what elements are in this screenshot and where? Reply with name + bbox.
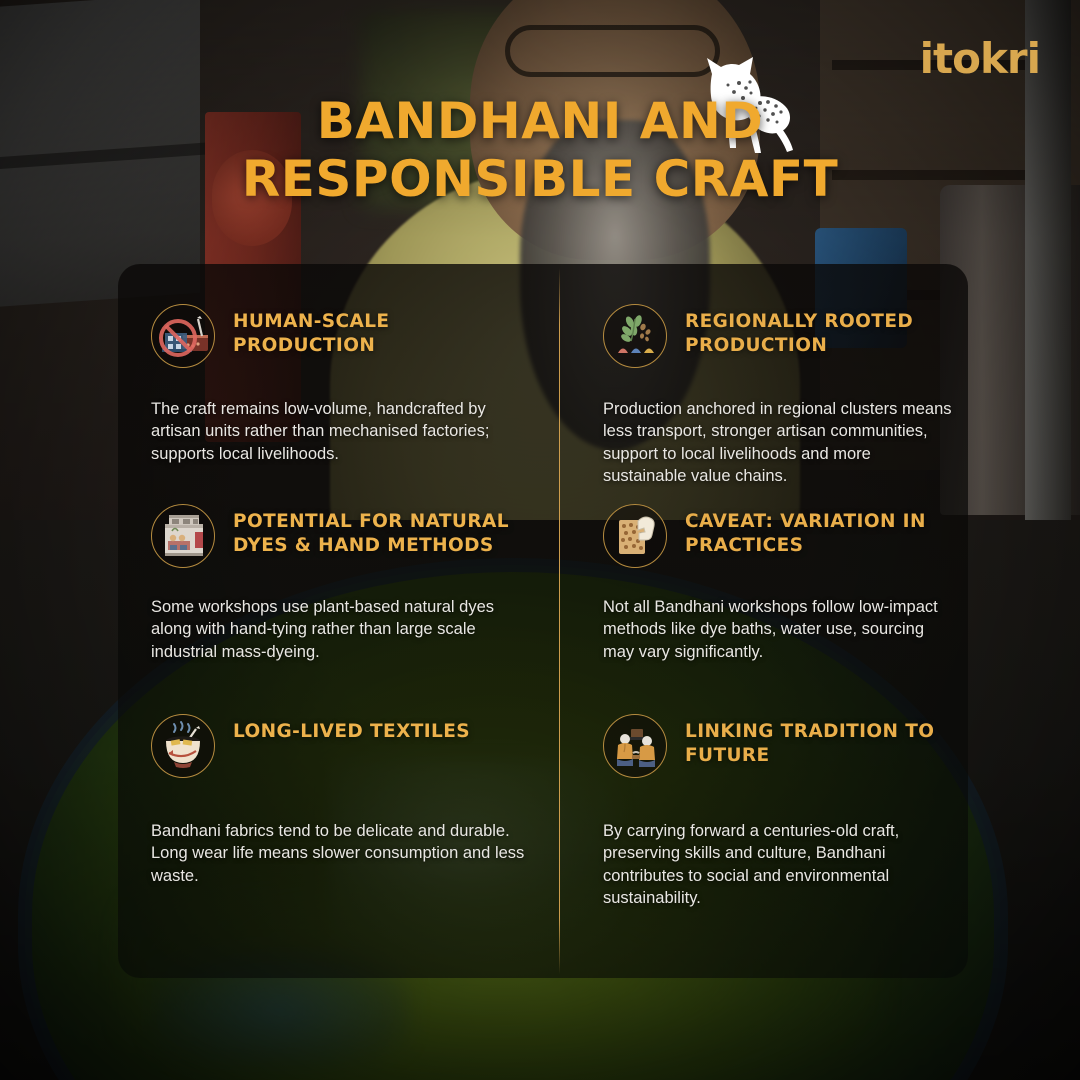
page-title: BANDHANI AND RESPONSIBLE CRAFT (0, 92, 1080, 208)
card-header: REGIONALLY ROOTED PRODUCTION (603, 304, 954, 368)
card-header: LINKING TRADITION TO FUTURE (603, 714, 954, 778)
feature-card: LONG-LIVED TEXTILES Bandhani fabrics ten… (118, 674, 559, 978)
title-line-1: BANDHANI AND (0, 92, 1080, 150)
card-title: HUMAN-SCALE PRODUCTION (233, 310, 537, 357)
card-body: Not all Bandhani workshops follow low-im… (603, 596, 954, 663)
feature-card: LINKING TRADITION TO FUTURE By carrying … (559, 674, 968, 978)
header: itokri (0, 0, 1080, 250)
title-line-2: RESPONSIBLE CRAFT (0, 150, 1080, 208)
card-title: LINKING TRADITION TO FUTURE (685, 720, 954, 767)
card-body: Bandhani fabrics tend to be delicate and… (151, 820, 537, 887)
card-header: CAVEAT: VARIATION IN PRACTICES (603, 504, 954, 568)
feature-card: CAVEAT: VARIATION IN PRACTICES Not all B… (559, 464, 968, 674)
brand-logo[interactable]: itokri (920, 38, 1040, 80)
card-header: POTENTIAL FOR NATURAL DYES & HAND METHOD… (151, 504, 537, 568)
feature-card: REGIONALLY ROOTED PRODUCTION Production … (559, 264, 968, 464)
feature-card: HUMAN-SCALE PRODUCTION The craft remains… (118, 264, 559, 464)
card-title: POTENTIAL FOR NATURAL DYES & HAND METHOD… (233, 510, 537, 557)
no-factory-icon (151, 304, 215, 368)
card-body: Some workshops use plant-based natural d… (151, 596, 537, 663)
card-header: LONG-LIVED TEXTILES (151, 714, 537, 778)
card-title: CAVEAT: VARIATION IN PRACTICES (685, 510, 954, 557)
card-title: REGIONALLY ROOTED PRODUCTION (685, 310, 954, 357)
brand-logo-text: itokri (920, 34, 1040, 83)
steaming-dye-pot-icon (151, 714, 215, 778)
feature-grid: HUMAN-SCALE PRODUCTION The craft remains… (118, 264, 968, 978)
card-header: HUMAN-SCALE PRODUCTION (151, 304, 537, 368)
craft-workshop-building-icon (151, 504, 215, 568)
card-title: LONG-LIVED TEXTILES (233, 720, 470, 744)
card-body: By carrying forward a centuries-old craf… (603, 820, 954, 910)
card-body: The craft remains low-volume, handcrafte… (151, 398, 537, 465)
two-artisans-icon (603, 714, 667, 778)
feature-card: POTENTIAL FOR NATURAL DYES & HAND METHOD… (118, 464, 559, 674)
seeds-and-dye-powders-icon (603, 304, 667, 368)
hand-holding-patterned-fabric-icon (603, 504, 667, 568)
